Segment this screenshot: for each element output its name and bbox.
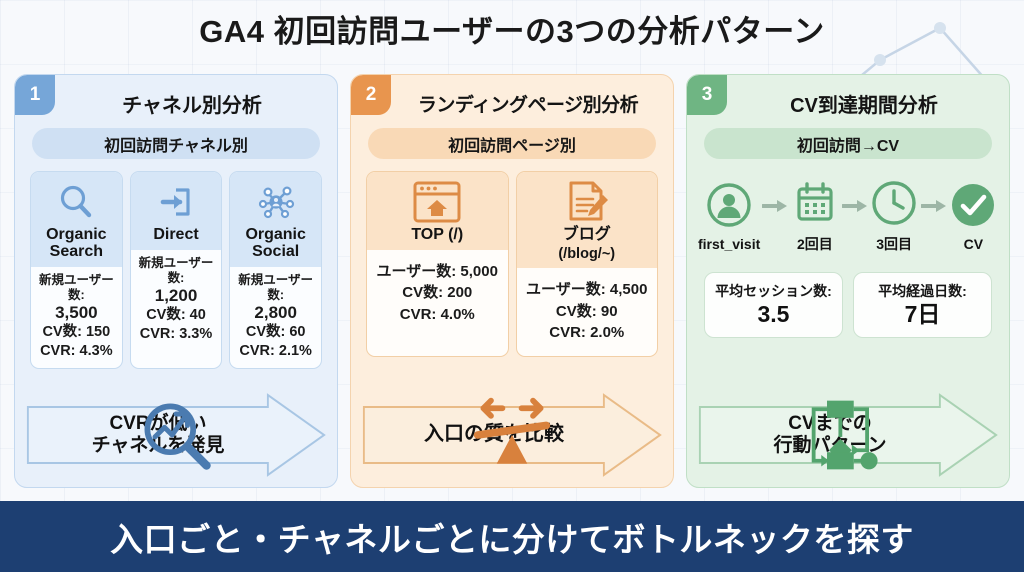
panel-title: ランディングページ別分析 <box>362 83 662 123</box>
card-header: OrganicSocial <box>230 172 321 267</box>
panel-number-badge: 1 <box>15 75 55 115</box>
panel-landing-page-analysis[interactable]: 2 ランディングページ別分析 初回訪問ページ別 <box>350 74 674 488</box>
cvr-value: CVR: 4.3% <box>33 342 120 361</box>
card-metrics: 新規ユーザー数: 1,200 CV数: 40 CVR: 3.3% <box>131 250 222 351</box>
metric-label: 新規ユーザー数: <box>139 256 214 285</box>
timeline-label: 2回目 <box>797 234 833 254</box>
landing-card-blog[interactable]: ブログ (/blog/~) ユーザー数: 4,500 CV数: 90 CVR: … <box>516 171 659 357</box>
metric-value: 1,200 <box>133 286 220 306</box>
timeline-arrow-icon <box>762 198 788 214</box>
card-header: TOP (/) <box>367 172 508 250</box>
stat-label: 平均セッション数: <box>709 281 838 301</box>
users-count: ユーザー数: 4,500 <box>519 279 656 300</box>
card-title: TOP (/) <box>411 227 463 244</box>
calendar-icon <box>792 177 838 229</box>
panel-number-badge: 2 <box>351 75 391 115</box>
channel-card-organic-social[interactable]: OrganicSocial 新規ユーザー数: 2,800 CV数: 60 CVR… <box>229 171 322 369</box>
card-title: ブログ <box>563 227 611 244</box>
cvr-value: CVR: 3.3% <box>133 325 220 344</box>
panel-title: CV到達期間分析 <box>698 83 998 123</box>
page-title: GA4 初回訪問ユーザーの3つの分析パターン <box>0 6 1024 51</box>
cv-stats: 平均セッション数: 3.5 平均経過日数: 7日 <box>704 272 992 338</box>
stat-value: 3.5 <box>709 302 838 328</box>
cvr-value: CVR: 2.0% <box>519 322 656 343</box>
landing-page-cards: TOP (/) ユーザー数: 5,000 CV数: 200 CVR: 4.0% <box>366 171 658 357</box>
channel-cards: OrganicSearch 新規ユーザー数: 3,500 CV数: 150 CV… <box>30 171 322 369</box>
card-title: OrganicSearch <box>46 227 106 261</box>
timeline-label: 3回目 <box>876 234 912 254</box>
stat-value: 7日 <box>858 302 987 328</box>
panel-conclusion-arrow: CVまでの行動パターン <box>698 393 998 477</box>
stat-avg-days[interactable]: 平均経過日数: 7日 <box>853 272 992 338</box>
timeline-arrow-icon <box>921 198 947 214</box>
timeline-step-second[interactable]: 2回目 <box>790 177 839 254</box>
cv-count: CV数: 150 <box>33 323 120 342</box>
card-header: Direct <box>131 172 222 250</box>
user-circle-icon <box>706 179 752 231</box>
users-count: ユーザー数: 5,000 <box>369 261 506 282</box>
card-metrics: ユーザー数: 4,500 CV数: 90 CVR: 2.0% <box>517 268 658 356</box>
panel-conclusion-arrow: 入口の質を比較 <box>362 393 662 477</box>
document-pencil-icon <box>563 179 611 224</box>
cv-count: CV数: 60 <box>232 323 319 342</box>
footer-text: 入口ごと・チャネルごとに分けてボトルネックを探す <box>110 513 914 561</box>
cvr-value: CVR: 2.1% <box>232 342 319 361</box>
stat-label: 平均経過日数: <box>858 281 987 301</box>
metric-label: 新規ユーザー数: <box>238 273 313 302</box>
cvr-value: CVR: 4.0% <box>369 304 506 325</box>
panel-subtitle-pill: 初回訪問チャネル別 <box>32 128 320 159</box>
login-arrow-icon <box>156 179 196 224</box>
card-header: ブログ (/blog/~) <box>517 172 658 268</box>
panel-conclusion-arrow: CVRが低いチャネルを発見 <box>26 393 326 477</box>
cv-count: CV数: 40 <box>133 306 220 325</box>
network-share-icon <box>256 179 296 224</box>
metric-value: 2,800 <box>232 303 319 323</box>
timeline-label: CV <box>964 236 983 252</box>
card-title: OrganicSocial <box>245 227 305 261</box>
footer-banner: 入口ごと・チャネルごとに分けてボトルネックを探す <box>0 501 1024 572</box>
panel-subtitle-pill: 初回訪問→CV <box>704 128 992 159</box>
card-header: OrganicSearch <box>31 172 122 267</box>
panel-cv-duration-analysis[interactable]: 3 CV到達期間分析 初回訪問→CV first_visit <box>686 74 1010 488</box>
check-circle-icon <box>950 179 996 231</box>
browser-home-icon <box>411 179 463 224</box>
channel-card-direct[interactable]: Direct 新規ユーザー数: 1,200 CV数: 40 CVR: 3.3% <box>130 171 223 369</box>
timeline-arrow-icon <box>842 198 868 214</box>
panel-title: チャネル別分析 <box>26 83 326 123</box>
timeline-step-cv[interactable]: CV <box>949 179 998 252</box>
timeline-label: first_visit <box>698 236 760 252</box>
cv-count: CV数: 200 <box>369 282 506 303</box>
card-metrics: 新規ユーザー数: 2,800 CV数: 60 CVR: 2.1% <box>230 267 321 368</box>
stat-avg-sessions[interactable]: 平均セッション数: 3.5 <box>704 272 843 338</box>
cv-timeline: first_visit <box>698 177 998 254</box>
clock-icon <box>871 177 917 229</box>
panel-channel-analysis[interactable]: 1 チャネル別分析 初回訪問チャネル別 OrganicSearch 新規ユーザー… <box>14 74 338 488</box>
landing-card-top[interactable]: TOP (/) ユーザー数: 5,000 CV数: 200 CVR: 4.0% <box>366 171 509 357</box>
magnifier-icon <box>56 179 96 224</box>
panels-container: 1 チャネル別分析 初回訪問チャネル別 OrganicSearch 新規ユーザー… <box>14 74 1010 488</box>
timeline-step-first-visit[interactable]: first_visit <box>698 179 760 252</box>
timeline-step-third[interactable]: 3回目 <box>870 177 919 254</box>
panel-subtitle-pill: 初回訪問ページ別 <box>368 128 656 159</box>
cv-count: CV数: 90 <box>519 301 656 322</box>
metric-label: 新規ユーザー数: <box>39 273 114 302</box>
card-metrics: ユーザー数: 5,000 CV数: 200 CVR: 4.0% <box>367 250 508 338</box>
card-metrics: 新規ユーザー数: 3,500 CV数: 150 CVR: 4.3% <box>31 267 122 368</box>
metric-value: 3,500 <box>33 303 120 323</box>
channel-card-organic-search[interactable]: OrganicSearch 新規ユーザー数: 3,500 CV数: 150 CV… <box>30 171 123 369</box>
card-title-sub: (/blog/~) <box>558 247 615 262</box>
panel-number-badge: 3 <box>687 75 727 115</box>
card-title: Direct <box>153 227 198 244</box>
